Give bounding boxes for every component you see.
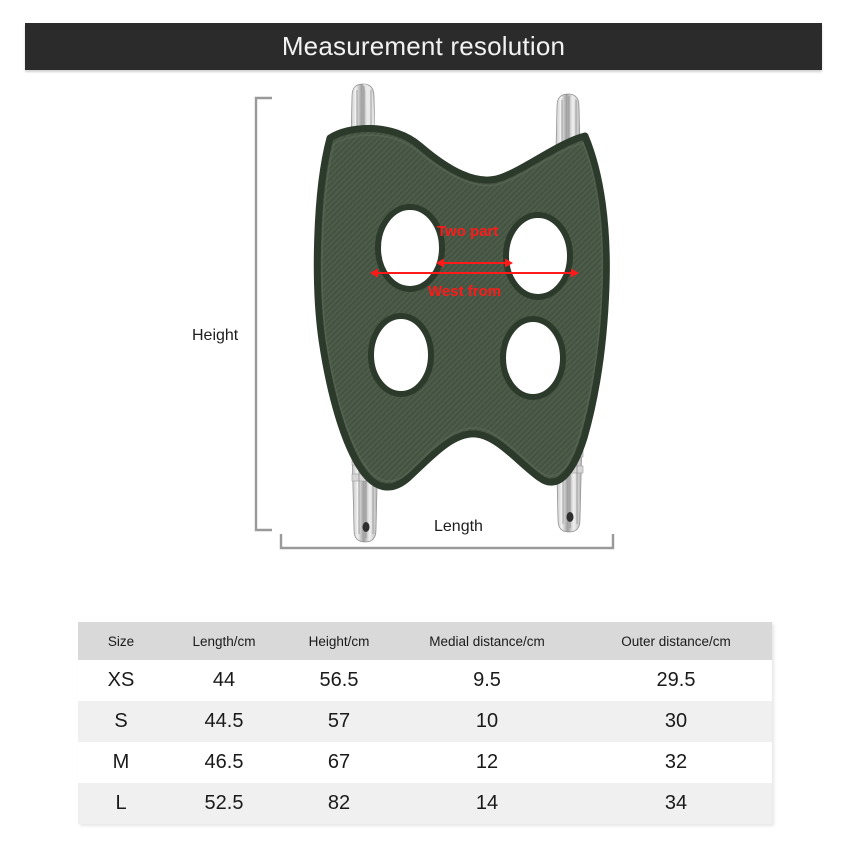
harness-body (317, 128, 606, 487)
cell-outer: 29.5 (580, 660, 772, 701)
cell-height: 82 (284, 783, 394, 824)
column-header-outer-distance: Outer distance/cm (580, 622, 772, 660)
leg-hole-bottom-left (371, 316, 431, 394)
column-header-height: Height/cm (284, 622, 394, 660)
table-row: S 44.5 57 10 30 (78, 701, 772, 742)
cell-outer: 34 (580, 783, 772, 824)
cell-length: 44.5 (164, 701, 284, 742)
cell-size: S (78, 701, 164, 742)
two-part-annotation: Two part (437, 223, 498, 240)
column-header-length: Length/cm (164, 622, 284, 660)
table-row: M 46.5 67 12 32 (78, 742, 772, 783)
length-measurement-label: Length (434, 518, 483, 536)
page-header-bar: Measurement resolution (25, 23, 822, 70)
cell-size: L (78, 783, 164, 824)
cell-length: 52.5 (164, 783, 284, 824)
column-header-medial-distance: Medial distance/cm (394, 622, 580, 660)
size-chart-table: Size Length/cm Height/cm Medial distance… (78, 622, 772, 824)
cell-medial: 12 (394, 742, 580, 783)
cell-size: XS (78, 660, 164, 701)
table-header: Size Length/cm Height/cm Medial distance… (78, 622, 772, 660)
length-bracket (281, 534, 613, 548)
table-body: XS 44 56.5 9.5 29.5 S 44.5 57 10 30 M 46… (78, 660, 772, 824)
cell-medial: 14 (394, 783, 580, 824)
cell-outer: 32 (580, 742, 772, 783)
cell-length: 44 (164, 660, 284, 701)
column-header-size: Size (78, 622, 164, 660)
table-row: XS 44 56.5 9.5 29.5 (78, 660, 772, 701)
height-measurement-label: Height (192, 327, 238, 345)
cell-height: 67 (284, 742, 394, 783)
page-title: Measurement resolution (282, 31, 565, 62)
cell-size: M (78, 742, 164, 783)
table-header-row: Size Length/cm Height/cm Medial distance… (78, 622, 772, 660)
cell-medial: 9.5 (394, 660, 580, 701)
diagram-svg (0, 78, 850, 598)
leg-hole-top-left (378, 207, 442, 289)
cell-outer: 30 (580, 701, 772, 742)
cell-height: 57 (284, 701, 394, 742)
height-bracket (256, 98, 272, 530)
size-chart-container: Size Length/cm Height/cm Medial distance… (78, 622, 772, 824)
cell-medial: 10 (394, 701, 580, 742)
leg-hole-bottom-right (503, 319, 563, 397)
cell-height: 56.5 (284, 660, 394, 701)
cell-length: 46.5 (164, 742, 284, 783)
west-from-annotation: West from (428, 283, 501, 300)
leg-hole-top-right (506, 215, 570, 297)
table-row: L 52.5 82 14 34 (78, 783, 772, 824)
product-measurement-diagram: Height Length Two part West from (0, 78, 850, 598)
